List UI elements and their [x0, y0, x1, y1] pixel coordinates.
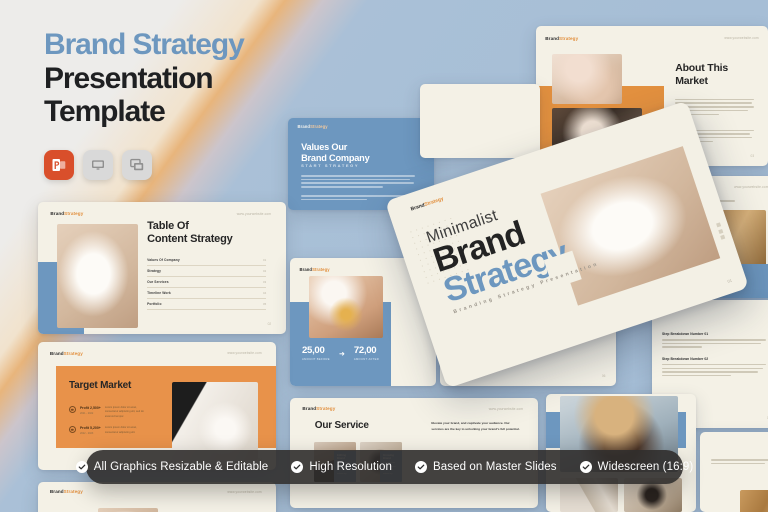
stat-after: 72,00 AMOUNT AFTER: [354, 346, 379, 361]
bullet-meta: 2021 - 2022: [80, 412, 101, 415]
arrow-right-icon: ➜: [339, 351, 345, 361]
keynote-icon: [90, 157, 106, 173]
slide-subtitle: START STRATEGY: [301, 163, 359, 168]
list-item[interactable]: Step Breakdown Number 02: [662, 357, 766, 377]
hero-side-squares-decor: [716, 222, 725, 239]
powerpoint-badge[interactable]: [44, 150, 74, 180]
list-item[interactable]: Strategy02: [147, 266, 266, 277]
stat-value: 72,00: [354, 346, 379, 356]
slide-logo: BrandStrategy: [299, 267, 329, 272]
slide-photo: [740, 490, 768, 512]
headline-line-3: Template: [44, 95, 244, 129]
slide-photo-cream-swatch: [57, 224, 138, 328]
slide-bottom-left-partial[interactable]: BrandStrategy www.yourwebsite.com: [38, 482, 276, 512]
list-item[interactable]: Step Breakdown Number 01: [662, 332, 766, 348]
toc-list: Values Of Company01 Strategy02 Our Servi…: [147, 255, 266, 310]
slide-paragraph: [711, 459, 768, 464]
list-item[interactable]: Timeline Work04: [147, 288, 266, 299]
slide-title: About This Market: [675, 62, 728, 87]
slide-logo: BrandStrategy: [302, 406, 335, 411]
slide-logo: BrandStrategy: [50, 351, 83, 356]
slide-title: Values Our Brand Company: [301, 142, 369, 164]
bullet-desc: Lorem ipsum dolor sit amet, consectetur …: [105, 426, 151, 435]
slide-url: www.yourwebsite.com: [734, 185, 768, 189]
bullet-value: Profit 5,200+: [80, 426, 101, 430]
feature-item: Widescreen (16:9): [580, 461, 694, 473]
slide-logo: BrandStrategy: [50, 489, 83, 494]
feature-label: Widescreen (16:9): [598, 461, 694, 473]
slide-description: Elevate your brand, and captivate your a…: [431, 421, 520, 432]
list-item[interactable]: Profit 2,500+ 2021 - 2022 Lorem ipsum do…: [69, 406, 151, 419]
hero-logo: BrandStrategy: [410, 196, 445, 213]
slide-photo-serum-drop: [309, 276, 383, 338]
stat-label: AMOUNT AFTER: [354, 358, 379, 361]
app-format-badges: [44, 150, 152, 180]
slide-url: www.yourwebsite.com: [237, 212, 271, 216]
check-icon: [580, 461, 592, 473]
check-icon: [291, 461, 303, 473]
slide-page-number: 03: [751, 154, 755, 158]
google-slides-badge[interactable]: [122, 150, 152, 180]
list-item[interactable]: Portfolio05: [147, 299, 266, 310]
step-title: Step Breakdown Number 01: [662, 332, 766, 336]
keynote-badge[interactable]: [83, 150, 113, 180]
slide-top-partial[interactable]: [420, 84, 540, 158]
feature-label: Based on Master Slides: [433, 461, 557, 473]
slide-url: www.yourwebsite.com: [227, 490, 261, 494]
feature-item: All Graphics Resizable & Editable: [76, 461, 269, 473]
slide-right-lower[interactable]: www.yourwebsite.com: [700, 432, 768, 512]
check-icon: [415, 461, 427, 473]
slide-table-of-content[interactable]: BrandStrategy www.yourwebsite.com Table …: [38, 202, 286, 334]
stat-value: 25,00: [302, 346, 330, 356]
step-paragraph: [662, 364, 766, 377]
slide-url: www.yourwebsite.com: [489, 407, 523, 411]
slide-photo-spa-1: [552, 54, 622, 104]
bullet-value: Profit 2,500+: [80, 406, 101, 410]
slide-logo: BrandStrategy: [545, 36, 578, 41]
bullet-list: Profit 2,500+ 2021 - 2022 Lorem ipsum do…: [69, 406, 151, 435]
slide-photo-hand-product: [172, 382, 258, 460]
feature-item: Based on Master Slides: [415, 461, 557, 473]
slide-logo: BrandStrategy: [50, 211, 83, 216]
slide-title: Target Market: [69, 380, 131, 392]
list-item[interactable]: Values Of Company01: [147, 255, 266, 266]
bullet-desc: Lorem ipsum dolor sit amet, consectetur …: [105, 406, 151, 419]
check-icon: [76, 461, 88, 473]
slide-logo: BrandStrategy: [297, 124, 327, 129]
feature-bar: All Graphics Resizable & Editable High R…: [86, 450, 683, 484]
list-item[interactable]: Profit 5,200+ 2022 - 2023 Lorem ipsum do…: [69, 426, 151, 435]
page-title: Brand Strategy Presentation Template: [44, 28, 244, 129]
google-slides-icon: [129, 157, 145, 173]
stat-before: 25,00 AMOUNT BEFORE: [302, 346, 330, 361]
powerpoint-icon: [51, 157, 67, 173]
step-list: Step Breakdown Number 01 Step Breakdown …: [662, 332, 766, 376]
slide-page-number: 06: [602, 374, 606, 378]
headline-line-1: Brand Strategy: [44, 28, 244, 62]
slide-url: www.yourwebsite.com: [724, 36, 758, 40]
feature-label: High Resolution: [309, 461, 392, 473]
hero-page-number: 01: [727, 278, 733, 284]
slide-paragraph-1: [301, 175, 415, 188]
feature-label: All Graphics Resizable & Editable: [94, 461, 269, 473]
bullet-meta: 2022 - 2023: [80, 432, 101, 435]
headline-line-2: Presentation: [44, 62, 244, 96]
step-paragraph: [662, 339, 766, 348]
slide-url: www.yourwebsite.com: [227, 351, 261, 355]
stat-row: 25,00 AMOUNT BEFORE ➜ 72,00 AMOUNT AFTER: [302, 346, 379, 361]
list-item[interactable]: Our Services03: [147, 277, 266, 288]
slide-title: Our Service: [315, 420, 369, 432]
slide-page-number: 02: [268, 322, 272, 326]
slide-photo: [98, 508, 158, 512]
feature-item: High Resolution: [291, 461, 392, 473]
step-title: Step Breakdown Number 02: [662, 357, 766, 361]
check-circle-icon: [69, 406, 76, 413]
slide-title: Table Of Content Strategy: [147, 220, 232, 246]
stat-label: AMOUNT BEFORE: [302, 358, 330, 361]
check-circle-icon: [69, 426, 76, 433]
